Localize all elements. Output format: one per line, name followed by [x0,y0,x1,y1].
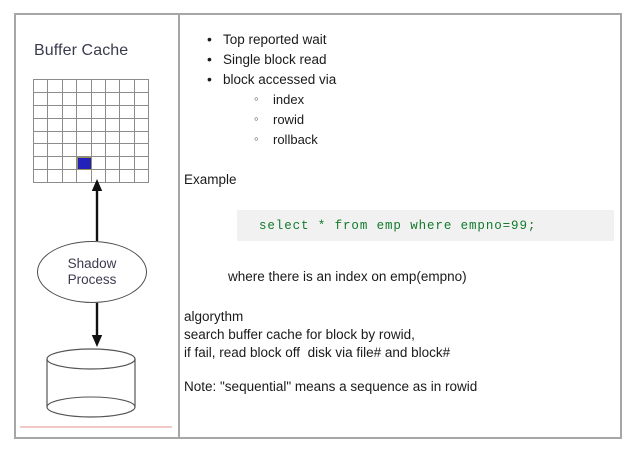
algorithm-text: algorythm search buffer cache for block … [184,308,450,362]
grid-cell [106,132,120,145]
grid-cell [77,80,91,93]
grid-cell [48,119,62,132]
grid-cell [34,132,48,145]
content-panel: Top reported wait Single block read bloc… [180,15,620,437]
grid-cell [34,119,48,132]
bullet-label: Top reported wait [223,32,327,47]
grid-cell [34,80,48,93]
grid-cell [135,157,149,170]
grid-cell [92,80,106,93]
grid-cell [92,93,106,106]
grid-cell [63,119,77,132]
grid-cell [48,80,62,93]
grid-cell [120,119,134,132]
grid-cell [48,132,62,145]
grid-cell [106,119,120,132]
grid-cell [48,157,62,170]
grid-cell [77,132,91,145]
grid-cell [120,132,134,145]
bullet-item-single-block-read: Single block read [202,50,602,70]
grid-cell [120,80,134,93]
grid-cell [135,106,149,119]
grid-cell [106,157,120,170]
buffer-cache-grid [33,79,149,183]
grid-cell [77,106,91,119]
grid-cell [106,93,120,106]
bullet-list: Top reported wait Single block read bloc… [202,30,602,90]
bullet-item-block-accessed-via: block accessed via [202,70,602,90]
sub-bullet-label: index [273,92,304,107]
grid-cell [48,106,62,119]
sql-code-block: select * from emp where empno=99; [237,210,614,241]
grid-cell [92,119,106,132]
sub-bullet-item-rollback: rollback [250,130,602,150]
grid-cell [48,170,62,183]
grid-cell [63,170,77,183]
grid-cell [48,93,62,106]
grid-cell [63,157,77,170]
grid-cell [63,144,77,157]
grid-cell [34,93,48,106]
buffer-cache-panel: Buffer Cache [16,15,180,437]
bullet-label: Single block read [223,52,327,67]
grid-cell [106,80,120,93]
grid-cell [135,170,149,183]
grid-cell-highlighted [77,157,91,170]
sub-bullet-item-rowid: rowid [250,110,602,130]
grid-cell [77,93,91,106]
grid-cell [135,132,149,145]
grid-cell [34,144,48,157]
shadow-process-node: Shadow Process [37,241,147,303]
sql-code-text: select * from emp where empno=99; [237,219,536,233]
arrow-up-icon [90,179,104,241]
grid-cell [135,80,149,93]
grid-cell [92,157,106,170]
grid-cell [106,144,120,157]
sub-bullet-list: index rowid rollback [202,90,602,150]
grid-cell [63,106,77,119]
shadow-process-line2: Process [68,272,117,288]
grid-cell [120,170,134,183]
slide-frame: Buffer Cache [14,13,622,439]
grid-cell [106,106,120,119]
grid-cell [77,119,91,132]
grid-cell [135,144,149,157]
grid-cell [63,80,77,93]
grid-cell [120,93,134,106]
grid-cell [106,170,120,183]
grid-cell [48,144,62,157]
grid-cell [92,106,106,119]
grid-cell [63,132,77,145]
grid-cell [135,119,149,132]
grid-cell [120,144,134,157]
grid-cell [77,144,91,157]
bullet-list-container: Top reported wait Single block read bloc… [202,30,602,150]
grid-cell [34,106,48,119]
grid-cell [34,157,48,170]
bullet-item-top-reported-wait: Top reported wait [202,30,602,50]
example-label: Example [184,172,237,187]
grid-cell [63,93,77,106]
arrow-down-icon [90,303,104,347]
sub-bullet-label: rollback [273,132,318,147]
shadow-process-line1: Shadow [68,256,117,272]
grid-cell [120,106,134,119]
horizontal-rule [20,426,172,428]
sequential-note-text: Note: "sequential" means a sequence as i… [184,379,477,394]
sub-bullet-item-index: index [250,90,602,110]
bullet-label: block accessed via [223,72,336,87]
grid-cell [120,157,134,170]
grid-cell [92,144,106,157]
grid-cell [92,132,106,145]
index-note-text: where there is an index on emp(empno) [228,269,467,284]
grid-cell [135,93,149,106]
disk-cylinder-icon [45,346,137,422]
buffer-cache-title: Buffer Cache [34,42,128,60]
sub-bullet-label: rowid [273,112,304,127]
grid-cell [34,170,48,183]
